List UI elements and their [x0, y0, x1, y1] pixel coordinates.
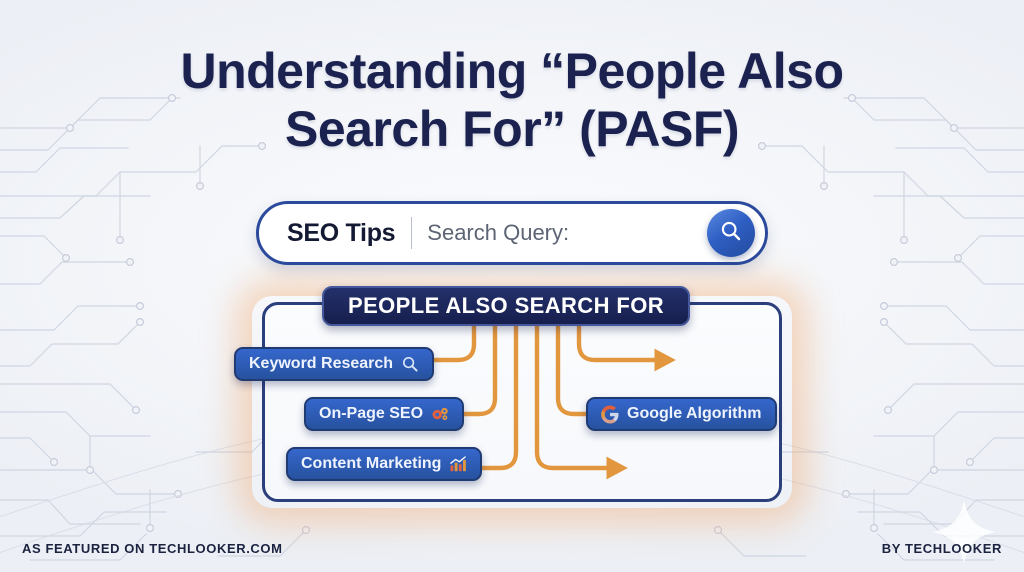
search-input[interactable]: Search Query:: [427, 220, 707, 246]
search-bar[interactable]: SEO Tips Search Query:: [256, 201, 768, 265]
search-divider: [411, 217, 412, 249]
node-keyword-research-label: Keyword Research: [249, 355, 393, 373]
search-icon: [718, 218, 744, 249]
search-button[interactable]: [707, 209, 755, 257]
footer-credit-right: BY TECHLOOKER: [882, 541, 1002, 556]
node-content-marketing[interactable]: Content Marketing: [286, 447, 482, 481]
diagram-header-pill: PEOPLE ALSO SEARCH FOR: [322, 286, 690, 326]
node-on-page-seo-label: On-Page SEO: [319, 405, 423, 423]
footer-credit-left: AS FEATURED ON TECHLOOKER.COM: [22, 541, 283, 556]
page-title-line-1: Understanding “People Also: [0, 42, 1024, 100]
infographic-canvas: Understanding “People Also Search For” (…: [0, 0, 1024, 572]
google-g-icon: [601, 405, 619, 423]
gears-icon: [431, 405, 449, 423]
search-tag-label: SEO Tips: [287, 219, 395, 248]
node-google-algorithm-label: Google Algorithm: [627, 405, 762, 423]
page-title: Understanding “People Also Search For” (…: [0, 42, 1024, 158]
bar-chart-icon: [449, 455, 467, 473]
node-keyword-research[interactable]: Keyword Research: [234, 347, 434, 381]
magnifier-icon: [401, 355, 419, 373]
page-title-line-2: Search For” (PASF): [0, 100, 1024, 158]
node-content-marketing-label: Content Marketing: [301, 455, 441, 473]
diagram-header-label: PEOPLE ALSO SEARCH FOR: [348, 293, 664, 319]
node-on-page-seo[interactable]: On-Page SEO: [304, 397, 464, 431]
node-google-algorithm[interactable]: Google Algorithm: [586, 397, 777, 431]
